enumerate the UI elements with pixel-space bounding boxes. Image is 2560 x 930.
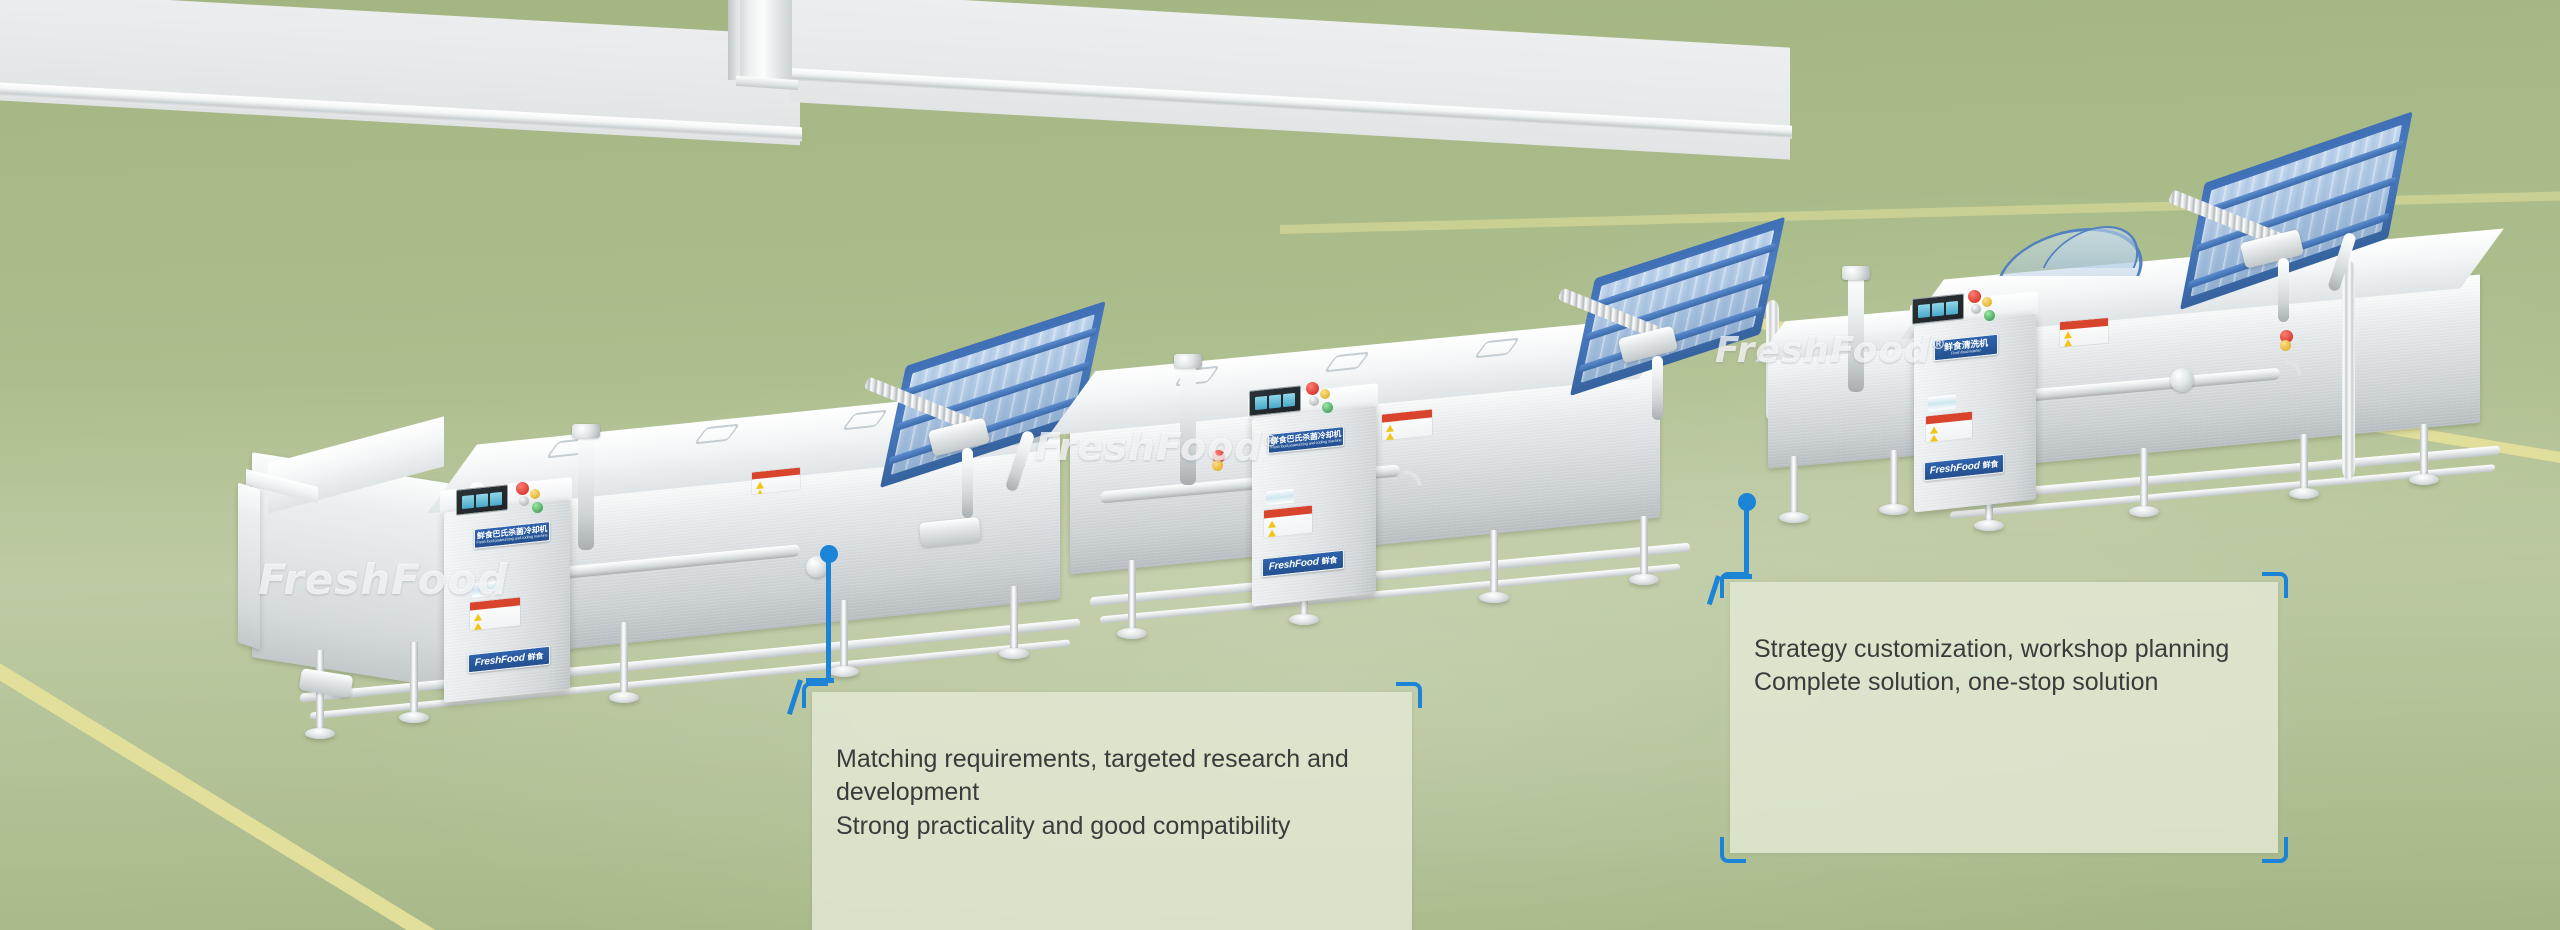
corner-bracket-icon: [1720, 572, 1746, 598]
corner-bracket-icon: [2262, 572, 2288, 598]
safety-label-cab-3: [1926, 412, 1972, 443]
safety-label-3: [2060, 318, 2108, 347]
brand-badge-cn: 鲜食: [1983, 458, 1999, 471]
machine-leg: [2300, 434, 2308, 492]
leveling-foot: [2289, 488, 2319, 499]
flexible-hose-3: [2342, 260, 2355, 480]
corner-bracket-icon: [2262, 837, 2288, 863]
machine-leg: [2420, 424, 2428, 478]
leveling-foot: [1779, 512, 1809, 523]
callout-right-text: Strategy customization, workshop plannin…: [1754, 635, 2229, 697]
production-line-scene: 鲜食巴氏杀菌冷却机 Fresh food pasteurizing and co…: [0, 0, 2560, 930]
callout-right-box: Strategy customization, workshop plannin…: [1730, 582, 2278, 853]
corner-bracket-icon: [1720, 837, 1746, 863]
leveling-foot: [2129, 506, 2159, 517]
brand-badge-text: FreshFood: [1930, 460, 1980, 476]
start-button-3[interactable]: [1984, 310, 1995, 321]
reset-button-3[interactable]: [1971, 304, 1981, 314]
tri-clamp: [1842, 266, 1870, 280]
leveling-foot: [1974, 520, 2004, 531]
callout-left-leader-vertical: [826, 558, 831, 678]
callout-right-leader-vertical: [1744, 506, 1749, 574]
emergency-stop-button-3[interactable]: [1968, 290, 1981, 303]
machine-leg: [2140, 448, 2148, 510]
callout-left-box: Matching requirements, targeted research…: [812, 692, 1412, 930]
callout-right: Strategy customization, workshop plannin…: [1730, 582, 2278, 853]
warning-lamp-top-3[interactable]: [2280, 340, 2291, 351]
corner-bracket-icon: [802, 682, 828, 708]
standpipe-3: [1848, 272, 1864, 392]
warning-lamp-3[interactable]: [1982, 297, 1992, 307]
hmi-touchscreen-3[interactable]: [1912, 293, 1964, 324]
leveling-foot: [1879, 504, 1909, 515]
valve-knob[interactable]: [2170, 368, 2194, 392]
leveling-foot: [2409, 474, 2439, 485]
certification-sticker-3: [1928, 395, 1956, 412]
callout-left-text: Matching requirements, targeted research…: [836, 745, 1349, 840]
callout-left: Matching requirements, targeted research…: [812, 692, 1412, 930]
corner-bracket-icon: [1396, 682, 1422, 708]
cabinet-3-nameplate-en: Fresh food washer: [1951, 348, 1981, 355]
machine-leg: [1790, 456, 1798, 516]
conveyor-support-leg: [2278, 258, 2289, 322]
machine-leg: [1890, 450, 1898, 508]
